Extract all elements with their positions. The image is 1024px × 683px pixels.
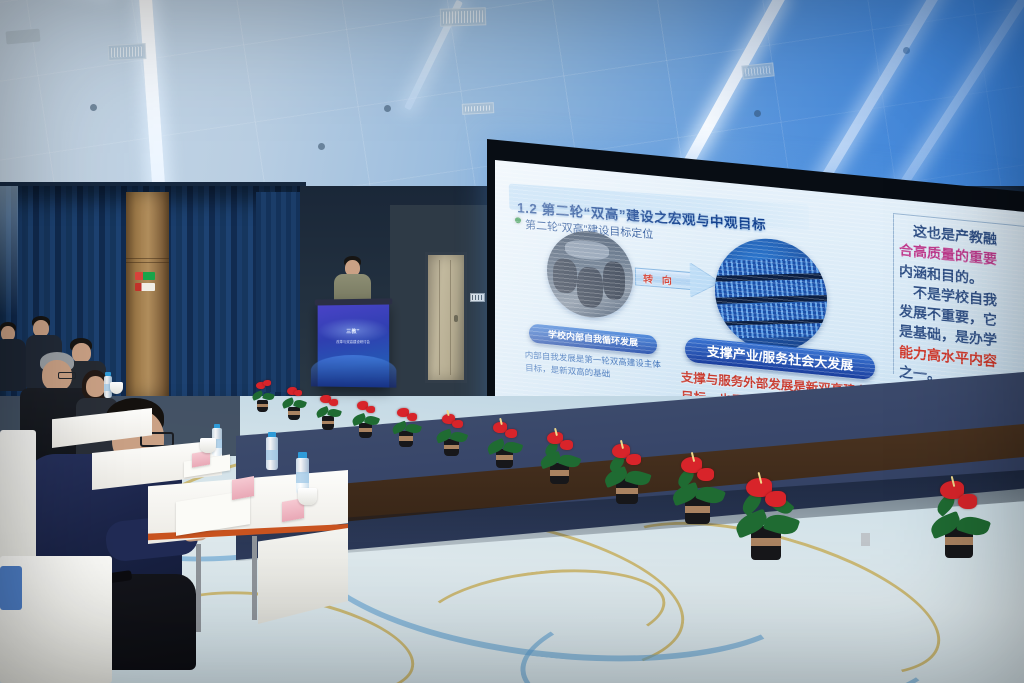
ceiling-air-vent xyxy=(108,43,147,61)
stage-plant xyxy=(672,452,724,524)
paper-cup[interactable] xyxy=(200,438,216,453)
transition-arrow-icon: 转 向 xyxy=(635,258,722,299)
speaker-podium: 三教” 改革与双高建设研讨会 xyxy=(318,302,390,387)
arrow-label: 转 向 xyxy=(643,270,675,288)
stage-plant xyxy=(316,392,341,430)
slide-caption-left: 内部自我发展是第一轮双高建设主体目标，是新双高的基础 xyxy=(525,349,666,385)
stage-plant xyxy=(487,418,522,468)
podium-headline: 三教” xyxy=(323,328,383,335)
chair-sash xyxy=(0,566,22,610)
stage-plant xyxy=(930,476,988,558)
ceiling-air-vent xyxy=(462,102,495,115)
room-number-plate xyxy=(470,293,485,302)
ceiling-air-vent xyxy=(440,7,487,27)
ceiling-speaker-icon xyxy=(318,143,325,150)
table-leg xyxy=(252,536,257,620)
photo-scene: 1.2 第二轮“双高”建设之宏观与中观目标 第二轮“双高”建设目标定位 转 向 … xyxy=(0,0,1024,683)
ceiling-speaker-icon xyxy=(90,104,97,111)
stage-plant xyxy=(282,384,306,420)
podium-subline: 改革与双高建设研讨会 xyxy=(323,340,383,345)
wooden-column xyxy=(126,192,169,397)
bullet-dot-icon xyxy=(515,217,521,224)
stage-plant xyxy=(352,398,379,438)
slide-side-text: 这也是产教融 合高质量的重要 内涵和目的。 不是学校自我 发展不重要，它 是基础… xyxy=(899,220,1024,397)
podium-wave-graphic xyxy=(311,355,397,388)
slide-photo-classroom xyxy=(547,227,633,321)
wall-light-glow xyxy=(0,186,18,316)
ceiling-speaker-icon xyxy=(384,105,391,112)
stage-plant xyxy=(436,410,468,456)
stage-plant xyxy=(540,428,580,484)
stage-edge-plate xyxy=(861,533,870,546)
safety-exit-sign xyxy=(135,272,155,280)
attendee-glasses-icon xyxy=(58,372,76,379)
water-bottle[interactable] xyxy=(266,432,278,470)
fire-equipment-sign xyxy=(135,283,155,291)
table-leg xyxy=(196,544,201,632)
stage-plant xyxy=(735,472,797,560)
paper-cup[interactable] xyxy=(298,488,317,505)
slide-photo-building xyxy=(715,234,827,357)
stage-plant xyxy=(252,378,274,412)
podium-top-surface xyxy=(315,298,393,305)
attendee-head xyxy=(86,376,105,397)
room-door[interactable] xyxy=(425,252,467,383)
stage-plant xyxy=(604,440,650,504)
name-card xyxy=(232,476,254,500)
stage-plant xyxy=(392,404,421,447)
